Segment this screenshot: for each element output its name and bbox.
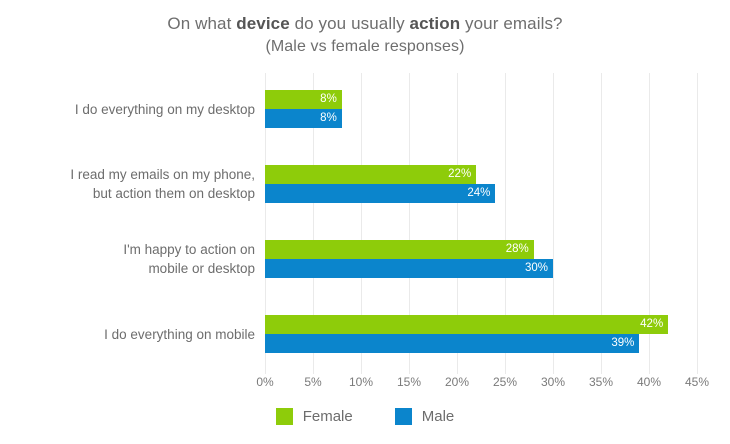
- bar-group: 22%24%: [265, 165, 697, 203]
- title-word: your: [465, 14, 503, 33]
- y-axis-label-line: I'm happy to action on: [15, 240, 255, 259]
- x-axis-tick: [601, 367, 602, 374]
- chart-subtitle: (Male vs female responses): [0, 35, 730, 58]
- x-axis-tick: [361, 367, 362, 374]
- title-word: you: [319, 14, 352, 33]
- x-axis-tick-label: 25%: [485, 375, 525, 390]
- title-emphasis: action: [410, 14, 466, 33]
- legend-label: Female: [303, 408, 353, 425]
- x-axis-tick: [697, 367, 698, 374]
- legend-swatch-male: [395, 408, 412, 425]
- y-axis-label-line: but action them on desktop: [15, 184, 255, 203]
- y-axis-category-label: I read my emails on my phone,but action …: [15, 165, 255, 203]
- title-emphasis: device: [236, 14, 294, 33]
- plot-area: 8%8%22%24%28%30%42%39%: [265, 73, 697, 367]
- y-axis-labels: I do everything on my desktopI read my e…: [10, 73, 255, 367]
- title-word: what: [195, 14, 236, 33]
- x-axis-tick: [313, 367, 314, 374]
- x-axis-tick: [457, 367, 458, 374]
- y-axis-category-label: I do everything on mobile: [15, 325, 255, 344]
- x-axis-tick-label: 40%: [629, 375, 669, 390]
- bar-female[interactable]: 8%: [265, 90, 342, 109]
- x-axis-tick: [409, 367, 410, 374]
- x-axis-tick: [649, 367, 650, 374]
- bar-group: 28%30%: [265, 240, 697, 278]
- y-axis-label-line: mobile or desktop: [15, 259, 255, 278]
- x-axis-tick-label: 20%: [437, 375, 477, 390]
- legend-item-female[interactable]: Female: [276, 408, 353, 425]
- y-axis-label-line: I do everything on mobile: [15, 325, 255, 344]
- x-axis-tick-label: 0%: [245, 375, 285, 390]
- y-axis-label-line: I read my emails on my phone,: [15, 165, 255, 184]
- x-axis-tick-label: 35%: [581, 375, 621, 390]
- x-axis-tick: [265, 367, 266, 374]
- y-axis-label-line: I do everything on my desktop: [15, 100, 255, 119]
- title-word: do: [295, 14, 319, 33]
- bar-group: 42%39%: [265, 315, 697, 353]
- x-axis: 0%5%10%15%20%25%30%35%40%45%: [265, 367, 697, 389]
- x-axis-tick-label: 30%: [533, 375, 573, 390]
- bar-male[interactable]: 30%: [265, 259, 553, 278]
- bar-female[interactable]: 22%: [265, 165, 476, 184]
- y-axis-category-label: I do everything on my desktop: [15, 100, 255, 119]
- bar-group: 8%8%: [265, 90, 697, 128]
- legend-label: Male: [422, 408, 455, 425]
- chart-legend: FemaleMale: [0, 408, 730, 425]
- x-axis-tick-label: 45%: [677, 375, 717, 390]
- x-axis-tick: [553, 367, 554, 374]
- x-axis-tick-label: 10%: [341, 375, 381, 390]
- title-word: usually: [351, 14, 409, 33]
- legend-swatch-female: [276, 408, 293, 425]
- chart-title-main: On what device do you usually action you…: [0, 12, 730, 35]
- bar-male[interactable]: 39%: [265, 334, 639, 353]
- x-axis-tick-label: 5%: [293, 375, 333, 390]
- title-word: emails?: [503, 14, 562, 33]
- legend-item-male[interactable]: Male: [395, 408, 455, 425]
- bar-female[interactable]: 28%: [265, 240, 534, 259]
- bar-male[interactable]: 8%: [265, 109, 342, 128]
- bar-female[interactable]: 42%: [265, 315, 668, 334]
- title-word: On: [167, 14, 195, 33]
- chart-title: On what device do you usually action you…: [0, 12, 730, 58]
- bar-male[interactable]: 24%: [265, 184, 495, 203]
- y-axis-category-label: I'm happy to action onmobile or desktop: [15, 240, 255, 278]
- gridline: [697, 73, 698, 367]
- x-axis-tick-label: 15%: [389, 375, 429, 390]
- x-axis-tick: [505, 367, 506, 374]
